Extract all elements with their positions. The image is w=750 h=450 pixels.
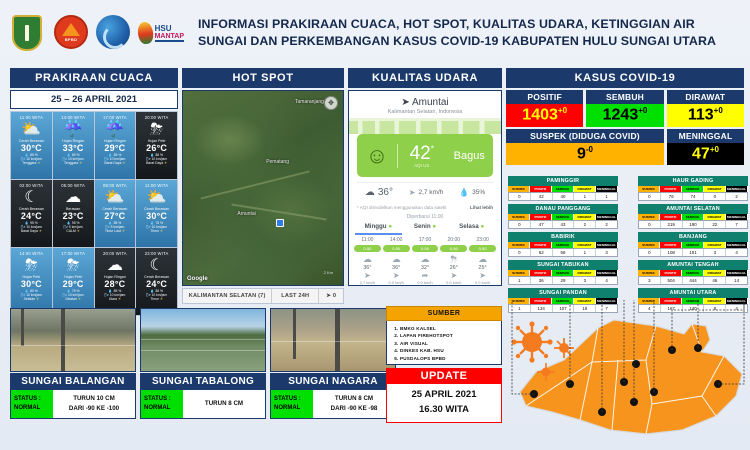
district-table-values: 0625813 [508,248,618,257]
district-name: HAUR GADING [638,176,748,186]
district-name: BABIRIK [508,232,618,242]
district-col-header: SEMBUH [682,214,704,220]
river-status-label-balangan: STATUS : [14,395,50,404]
day-status-dot: ● [388,223,392,230]
weather-condition-icon: ⛈ [54,257,93,275]
update-body: 25 APRIL 2021 16.30 WITA [386,384,502,423]
aqi-unit: AQI US [398,163,446,168]
weather-condition-icon: ☁ [96,257,135,275]
river-photo-balangan [10,308,136,372]
river-status-balangan: STATUS : NORMAL [11,390,53,418]
source-item: DINKES KAB. HSU [400,347,497,354]
logo-group: BPBD HSU MANTAP [12,15,184,51]
air-quality-hour-cell: 11:000-50☁36°➤2,7 km/h [353,237,382,285]
cloud-icon: ☁ [365,187,375,198]
air-quality-stats: ☁ 36° ➤ 2,7 km/h 💧 35% [357,182,493,202]
bpbd-label: BPBD [65,37,78,42]
district-col-header: POSITIF [660,214,682,220]
district-cell-value: 1 [574,193,596,200]
river-status-value-tabalong: NORMAL [144,404,180,413]
covid-positif-value: 1403 [522,106,558,123]
air-quality-region: Kalimantan Selatan, Indonesia [349,109,501,118]
air-quality-day-tab[interactable]: Senin ● [402,223,449,235]
air-quality-day-tab[interactable]: Selasa ● [448,223,495,235]
map-shape [520,320,742,434]
covid-positif-value-box: 1403+0 [506,104,583,127]
hour-time: 14:00 [382,237,411,243]
weather-condition-icon: ⛈ [137,121,176,139]
district-name: DANAU PANGGANG [508,204,618,214]
district-cell-value: 444 [683,277,705,284]
weather-description: Cerah Berawan [12,139,51,143]
weather-description: Cerah Berawan [137,275,176,279]
air-quality-hourly-forecast: 11:000-50☁36°➤2,7 km/h14:000-50☁36°➤0.0 … [353,237,497,285]
district-col-header: POSITIF [530,270,552,276]
hour-wind-speed: 0.0 km/h [382,280,411,285]
weather-condition-icon: ⛅ [12,121,51,139]
hotspot-time-filter[interactable]: LAST 24H [272,289,319,303]
weather-wind-direction: Barat Daya ☀ [137,161,176,165]
update-time: 16.30 WITA [387,403,501,418]
district-table-header: SUSPEKPOSITIFSEMBUHDIRAWATMENINGGAL [638,242,748,248]
river-info-nagara: TURUN 8 CM DARI -90 KE -98 [313,390,395,418]
map-scale-label: 2 Km [324,270,333,275]
weather-description: Cerah Berawan [12,207,51,211]
see-more-link[interactable]: Lihat lebih [470,205,493,210]
district-col-header: DIRAWAT [574,186,596,192]
river-info-balangan: TURUN 10 CM DARI -90 KE -100 [53,390,135,418]
weather-condition-icon: ☾ [137,257,176,275]
weather-cell: 17:00 WITA⛈Hujan Petir29°C💧 75 %🌬 10 km/… [53,248,94,315]
district-col-header: POSITIF [660,242,682,248]
covid-panel-title: KASUS COVID-19 [506,68,744,88]
weather-condition-icon: ☁ [54,189,93,207]
district-col-header: MENINGGAL [726,214,748,220]
regional-map [506,300,750,446]
weather-cell: 14:00 WITA⛈Hujan Petir30°C💧 80 %🌬 10 km/… [11,248,52,315]
district-cell-value: 22 [704,221,726,228]
river-photo-tabalong [140,308,266,372]
river-info-line1-balangan: TURUN 10 CM [73,394,115,404]
wind-value: 2,7 km/h [418,189,443,196]
district-col-header: MENINGGAL [596,186,618,192]
river-info-tabalong: TURUN 8 CM [183,390,265,418]
weather-wind-direction: Barat Daya ☀ [96,161,135,165]
day-status-dot: ● [432,223,436,230]
district-col-header: MENINGGAL [726,242,748,248]
covid-sembuh-value: 1243 [603,106,639,123]
weather-description: Hujan Petir [54,275,93,279]
logo-hsu-mantap: HSU MANTAP [138,16,184,50]
weather-temperature: 29°C [96,143,135,153]
district-col-header: MENINGGAL [726,186,748,192]
map-label-pematang: Pematang [266,159,289,165]
source-item: AIR VISUAL [400,340,497,347]
hsu-district-map [506,300,750,446]
weather-condition-icon: ⛅ [96,189,135,207]
district-cell-value: 29 [553,277,575,284]
weather-wind-direction: Utara ☀ [96,297,135,301]
hotspot-panel-title: HOT SPOT [182,68,344,88]
district-table: HAUR GADINGSUSPEKPOSITIFSEMBUHDIRAWATMEN… [638,176,748,201]
weather-grid: 11:00 WITA⛅Cerah Berawan30°C💧 85 %🌬 10 k… [10,111,178,316]
air-quality-day-tab[interactable]: Minggu ● [355,223,402,235]
weather-temperature: 33°C [54,143,93,153]
air-quality-footnote-row: * AQI dimodelkan menggunakan data sateli… [357,205,493,210]
weather-forecast-panel: PRAKIRAAN CUACA 25 – 26 APRIL 2021 11:00… [10,68,178,316]
district-col-header: DIRAWAT [574,270,596,276]
district-name: BANJANG [638,232,748,242]
hsu-label-line1: HSU [155,25,184,33]
district-table-column-right: HAUR GADINGSUSPEKPOSITIFSEMBUHDIRAWATMEN… [638,176,748,316]
air-quality-updated: Diperbarui 11:00 [349,214,501,220]
district-cell-value: 42 [531,193,553,200]
map-label-tamaranjang: Tamaranjang [295,99,324,105]
weather-wind-direction: Selatan ☀ [54,297,93,301]
weather-panel-title: PRAKIRAAN CUACA [10,68,178,88]
weather-cell: 14:00 WITA☔Hujan Ringan33°C💧 80 %🌬 10 km… [53,112,94,179]
district-col-header: POSITIF [530,186,552,192]
sources-panel: SUMBER BMKG KALSELLAPAN FIREHOTSPOTAIR V… [386,306,502,423]
river-status-value-balangan: NORMAL [14,404,50,413]
skyline-decoration [349,118,501,134]
covid-suspek-delta: -0 [586,145,593,154]
district-cell-value: 76 [661,193,683,200]
hotspot-region-filter[interactable]: KALIMANTAN SELATAN (7) [183,289,272,303]
aqi-value-block: 42* AQI US [397,144,446,168]
covid-sembuh-value-box: 1243+0 [586,104,663,127]
air-quality-hour-cell: 20:000-50⛈26°➤0.0 km/h [439,237,468,285]
covid-stat-suspek: SUSPEK (DIDUGA COVID) 9-0 [506,129,664,166]
district-col-header: MENINGGAL [596,270,618,276]
hour-time: 23:00 [468,237,497,243]
weather-condition-icon: ⛅ [137,189,176,207]
district-cell-value: 3 [574,277,596,284]
wind-stat: ➤ 2,7 km/h [409,188,444,197]
weather-condition-icon: ☔ [96,121,135,139]
district-table-values: 0767402 [638,192,748,201]
weather-temperature: 27°C [96,211,135,221]
district-cell-value: 2 [574,221,596,228]
district-cell-value: 46 [704,277,726,284]
covid-dirawat-value-box: 113+0 [667,104,744,127]
district-col-header: DIRAWAT [574,242,596,248]
district-cell-value: 4 [726,249,747,256]
weather-time: 14:00 WITA [12,251,51,256]
air-quality-hour-cell: 14:000-50☁36°➤0.0 km/h [382,237,411,285]
district-cell-value: 0 [639,249,661,256]
district-cell-value: 36 [531,277,553,284]
district-cell-value: 0 [704,193,726,200]
river-info-line2-nagara: DARI -90 KE -98 [331,404,378,414]
district-table: SUNGAI TABUKANSUSPEKPOSITIFSEMBUHDIRAWAT… [508,260,618,285]
weather-wind-direction: Timur ☀ [137,297,176,301]
weather-description: Hujan Petir [137,139,176,143]
river-status-label-nagara: STATUS : [274,395,310,404]
air-quality-hour-cell: 17:000-50☁32°➦0.0 km/h [411,237,440,285]
source-item: LAPAN FIREHOTSPOT [400,332,497,339]
weather-wind-direction: Timur ☀ [137,229,176,233]
covid-stat-sembuh: SEMBUH 1243+0 [586,90,663,127]
district-cell-value: 40 [553,193,575,200]
aqi-footnote: * AQI dimodelkan menggunakan data sateli… [357,205,446,210]
covid-sembuh-label: SEMBUH [586,90,663,104]
weather-time: 11:00 WITA [12,115,51,120]
temperature-value: 36° [378,187,393,198]
weather-temperature: 30°C [12,143,51,153]
district-col-header: DIRAWAT [704,186,726,192]
weather-time: 08:00 WITA [96,183,135,188]
covid-dirawat-label: DIRAWAT [667,90,744,104]
district-cell-value: 101 [683,249,705,256]
source-item: BMKG KALSEL [400,325,497,332]
hour-aqi-range: 0-50 [412,245,439,252]
river-status-label-tabalong: STATUS : [144,395,180,404]
weather-description: Hujan Petir [12,275,51,279]
location-arrow-icon: ➤ [401,97,409,108]
district-table-header: SUSPEKPOSITIFSEMBUHDIRAWATMENINGGAL [638,214,748,220]
weather-description: Cerah Berawan [96,207,135,211]
hour-weather-icon: ☁ [382,254,411,265]
weather-time: 11:00 WITA [137,183,176,188]
river-panel-tabalong: SUNGAI TABALONG STATUS : NORMAL TURUN 8 … [140,308,266,419]
weather-time: 20:00 WITA [96,251,135,256]
weather-description: Cerah Berawan [137,207,176,211]
weather-cell: 05:00 WITA☁Berawan23°C💧 95 %🌬 5 km/jamCA… [53,180,94,247]
weather-time: 17:00 WITA [54,251,93,256]
day-label: Minggu [365,223,387,230]
district-name: AMUNTAI TENGAH [638,260,748,270]
district-col-header: SEMBUH [682,186,704,192]
district-cell-value: 3 [704,249,726,256]
page-header: BPBD HSU MANTAP INFORMASI PRAKIRAAN CUAC… [0,0,750,62]
hour-wind-icon: ➤ [382,271,411,280]
aqi-category-label: Bagus [446,150,494,162]
air-quality-city-name: Amuntai [412,97,449,108]
happy-face-icon: ☺ [357,143,397,169]
weather-time: 05:00 WITA [54,183,93,188]
air-quality-panel-title: KUALITAS UDARA [348,68,502,88]
district-table-values: 35044444614 [638,276,748,285]
river-photo-nagara [270,308,396,372]
district-cell-value: 0 [509,249,531,256]
weather-time: 23:00 WITA [137,251,176,256]
district-col-header: SUSPEK [638,242,660,248]
weather-time: 17:00 WITA [96,115,135,120]
weather-wind-direction: Selatan ☀ [12,297,51,301]
river-name-tabalong: SUNGAI TABALONG [140,373,266,390]
district-table-header: SUSPEKPOSITIFSEMBUHDIRAWATMENINGGAL [638,186,748,192]
compass-icon[interactable]: ✥ [324,96,338,110]
district-cell-value: 2 [596,221,617,228]
hour-aqi-range: 0-50 [354,245,381,252]
river-info-line1-tabalong: TURUN 8 CM [205,399,243,409]
weather-date-range: 25 – 26 APRIL 2021 [10,90,178,109]
page-title-line2: SUNGAI DAN PERKEMBANGAN KASUS COVID-19 K… [198,33,716,50]
river-name-nagara: SUNGAI NAGARA [270,373,396,390]
district-table-header: SUSPEKPOSITIFSEMBUHDIRAWATMENINGGAL [508,270,618,276]
weather-temperature: 24°C [12,211,51,221]
district-cell-value: 0 [639,221,661,228]
covid-panel: KASUS COVID-19 POSITIF 1403+0 SEMBUH 124… [506,68,744,165]
covid-primary-row: POSITIF 1403+0 SEMBUH 1243+0 DIRAWAT 113… [506,90,744,127]
logo-bmkg [96,15,132,51]
district-cell-value: 108 [661,249,683,256]
district-col-header: POSITIF [530,214,552,220]
hour-wind-icon: ➦ [411,271,440,280]
district-name: PAMINGGIR [508,176,618,186]
hour-wind-icon: ➤ [439,271,468,280]
district-table: BANJANGSUSPEKPOSITIFSEMBUHDIRAWATMENINGG… [638,232,748,257]
hsu-label-line2: MANTAP [155,33,184,42]
day-label: Senin [414,223,431,230]
river-info-line1-nagara: TURUN 8 CM [335,394,373,404]
district-col-header: DIRAWAT [574,214,596,220]
district-col-header: SEMBUH [552,186,574,192]
district-col-header: SUSPEK [638,214,660,220]
hotspot-count-badge[interactable]: ➤ 0 [319,289,343,303]
district-table-values: 0219190227 [638,220,748,229]
weather-temperature: 23°C [54,211,93,221]
covid-stat-dirawat: DIRAWAT 113+0 [667,90,744,127]
air-quality-city: ➤ Amuntai [349,91,501,109]
covid-suspek-value: 9 [577,145,586,162]
district-col-header: POSITIF [530,242,552,248]
weather-time: 02:00 WITA [12,183,51,188]
district-col-header: SUSPEK [508,242,530,248]
river-body-tabalong: STATUS : NORMAL TURUN 8 CM [140,390,266,419]
district-cell-value: 0 [509,221,531,228]
district-table: AMUNTAI TENGAHSUSPEKPOSITIFSEMBUHDIRAWAT… [638,260,748,285]
weather-cell: 23:00 WITA☾Cerah Berawan24°C💧 88 %🌬 10 k… [136,248,177,315]
district-table-header: SUSPEKPOSITIFSEMBUHDIRAWATMENINGGAL [508,214,618,220]
district-cell-value: 58 [553,249,575,256]
covid-suspek-value-box: 9-0 [506,143,664,166]
hour-aqi-range: 0-50 [440,245,467,252]
hour-weather-icon: ☁ [468,254,497,265]
weather-description: Hujan Ringan [96,275,135,279]
covid-secondary-row: SUSPEK (DIDUGA COVID) 9-0 MENINGGAL 47+0 [506,129,744,166]
map-label-amuntai: Amuntai [237,211,255,217]
air-quality-hour-cell: 23:000-50☁25°➤0.0 km/h [468,237,497,285]
aqi-summary: ☺ 42* AQI US Bagus [357,134,493,177]
day-label: Selasa [459,223,479,230]
logo-pemkab-hsu [12,15,48,51]
district-cell-value: 74 [683,193,705,200]
weather-temperature: 29°C [54,279,93,289]
district-cell-value: 4 [596,277,617,284]
district-col-header: DIRAWAT [704,242,726,248]
weather-wind-direction: CALM ☀ [54,229,93,233]
district-col-header: MENINGGAL [596,214,618,220]
hour-weather-icon: ⛈ [439,254,468,265]
weather-condition-icon: ☔ [54,121,93,139]
district-col-header: MENINGGAL [726,270,748,276]
weather-temperature: 24°C [137,279,176,289]
air-quality-day-tabs: Minggu ●Senin ●Selasa ● [355,223,495,235]
hotspot-map[interactable]: ✥ Tamaranjang Pematang Amuntai Google 2 … [182,90,344,286]
weather-temperature: 30°C [12,279,51,289]
district-table: DANAU PANGGANGSUSPEKPOSITIFSEMBUHDIRAWAT… [508,204,618,229]
weather-cell: 20:00 WITA⛈Hujan Petir26°C💧 88 %🌬 10 km/… [136,112,177,179]
google-attribution: Google [187,276,208,282]
district-name: SUNGAI TABUKAN [508,260,618,270]
covid-dirawat-delta: +0 [714,106,723,115]
covid-dirawat-value: 113 [688,106,714,123]
district-cell-value: 3 [639,277,661,284]
district-table-values: 010810134 [638,248,748,257]
district-table-header: SUSPEKPOSITIFSEMBUHDIRAWATMENINGGAL [508,242,618,248]
hour-wind-speed: 0.0 km/h [468,280,497,285]
hour-wind-icon: ➤ [353,271,382,280]
covid-meninggal-value: 47 [692,145,710,162]
weather-description: Hujan Ringan [54,139,93,143]
covid-positif-delta: +0 [558,106,567,115]
covid-stat-positif: POSITIF 1403+0 [506,90,583,127]
district-col-header: POSITIF [660,186,682,192]
district-col-header: DIRAWAT [704,214,726,220]
weather-wind-direction: Tenggara ☀ [54,161,93,165]
district-col-header: SEMBUH [552,270,574,276]
district-col-header: SEMBUH [552,242,574,248]
district-table-values: 0424011 [508,192,618,201]
river-name-balangan: SUNGAI BALANGAN [10,373,136,390]
humidity-value: 35% [472,189,485,196]
aqi-value: 42 [410,143,431,164]
wind-arrow-icon: ➤ [409,188,416,197]
covid-meninggal-delta: +0 [710,145,719,154]
weather-cell: 11:00 WITA⛅Cerah Berawan30°C💧 75 %🌬 10 k… [136,180,177,247]
page-title-line1: INFORMASI PRAKIRAAN CUACA, HOT SPOT, KUA… [198,16,716,33]
district-cell-value: 0 [639,193,661,200]
weather-condition-icon: ⛈ [12,257,51,275]
district-cell-value: 2 [726,193,747,200]
covid-suspek-label: SUSPEK (DIDUGA COVID) [506,129,664,143]
weather-wind-direction: Barat Daya ☀ [12,229,51,233]
hour-wind-speed: 0.0 km/h [439,280,468,285]
weather-cell: 17:00 WITA☔Hujan Ringan29°C💧 85 %🌬 10 km… [95,112,136,179]
weather-cell: 11:00 WITA⛅Cerah Berawan30°C💧 85 %🌬 10 k… [11,112,52,179]
temperature-stat: ☁ 36° [365,187,393,198]
hotspot-footer: KALIMANTAN SELATAN (7) LAST 24H ➤ 0 [182,288,344,304]
river-status-tabalong: STATUS : NORMAL [141,390,183,418]
weather-time: 14:00 WITA [54,115,93,120]
sources-list: BMKG KALSELLAPAN FIREHOTSPOTAIR VISUALDI… [386,321,502,365]
district-cell-value: 62 [531,249,553,256]
district-table-header: SUSPEKPOSITIFSEMBUHDIRAWATMENINGGAL [638,270,748,276]
river-status-nagara: STATUS : NORMAL [271,390,313,418]
district-col-header: SUSPEK [638,270,660,276]
weather-cell: 08:00 WITA⛅Cerah Berawan27°C💧 85 %🌬 5 km… [95,180,136,247]
district-col-header: SEMBUH [682,270,704,276]
district-cell-value: 0 [509,193,531,200]
district-col-header: SEMBUH [682,242,704,248]
weather-description: Berawan [54,207,93,211]
weather-cell: 02:00 WITA☾Cerah Berawan24°C💧 95 %🌬 10 k… [11,180,52,247]
district-table-header: SUSPEKPOSITIFSEMBUHDIRAWATMENINGGAL [508,186,618,192]
district-cell-value: 1 [596,193,617,200]
humidity-stat: 💧 35% [459,188,485,197]
district-col-header: DIRAWAT [704,270,726,276]
district-col-header: POSITIF [660,270,682,276]
hotspot-marker[interactable] [276,219,284,227]
river-body-balangan: STATUS : NORMAL TURUN 10 CM DARI -90 KE … [10,390,136,419]
weather-cell: 20:00 WITA☁Hujan Ringan28°C💧 85 %🌬 10 km… [95,248,136,315]
covid-stat-meninggal: MENINGGAL 47+0 [667,129,744,166]
page-title: INFORMASI PRAKIRAAN CUACA, HOT SPOT, KUA… [198,16,716,49]
district-cell-value: 7 [726,221,747,228]
district-name: SUNGAI PANDAN [508,288,618,298]
